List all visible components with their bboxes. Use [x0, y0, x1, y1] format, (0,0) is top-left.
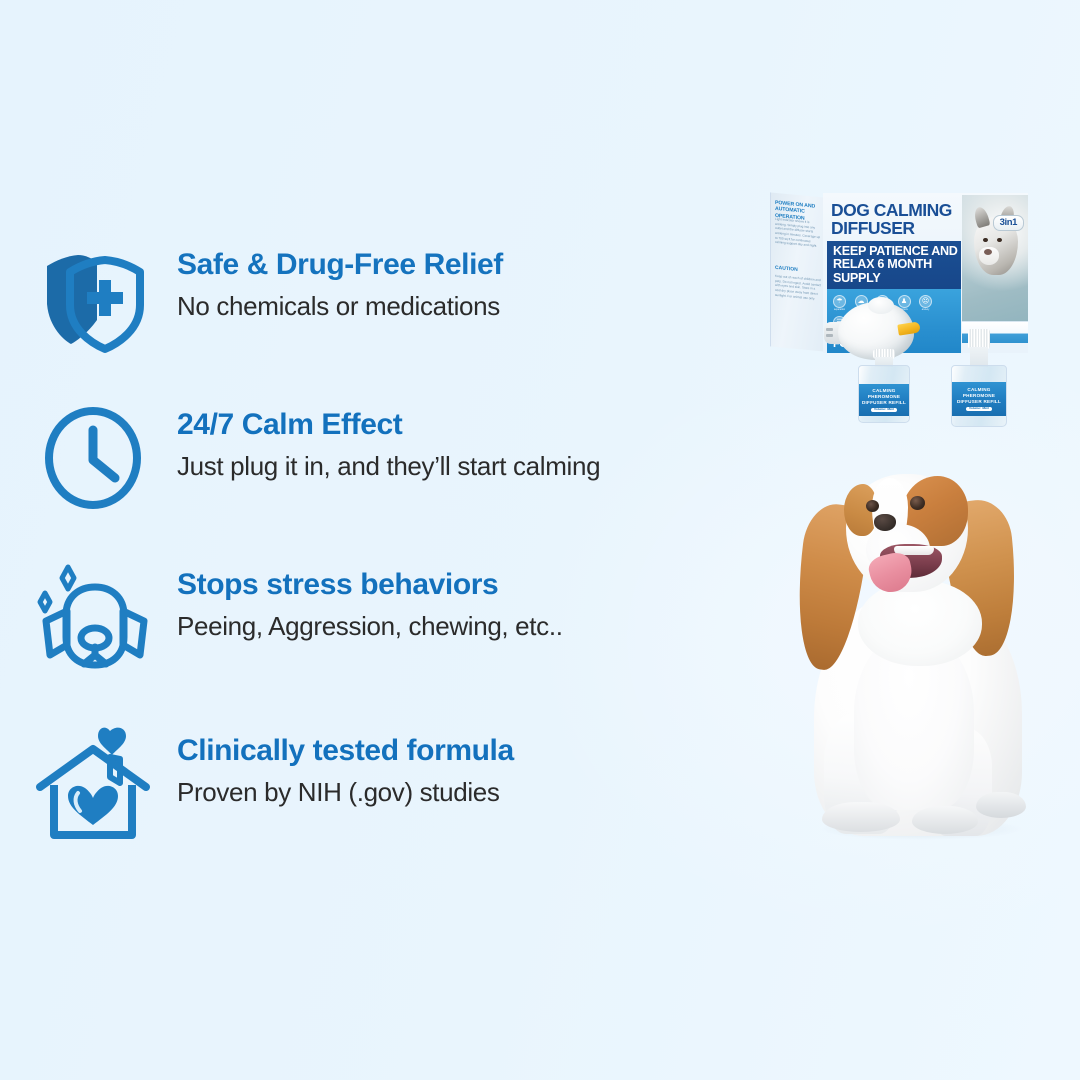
bottle-label-line1: CALMING PHEROMONE [952, 387, 1006, 399]
dog-paw-left [822, 802, 900, 832]
bottle-label-line2: DIFFUSER REFILL [862, 400, 906, 406]
feature-subtitle: Just plug it in, and they’ll start calmi… [177, 452, 600, 481]
bottle-glass: CALMING PHEROMONE DIFFUSER REFILL Volume… [858, 365, 910, 423]
feature-subtitle: Proven by NIH (.gov) studies [177, 778, 514, 807]
refill-bottle-2: CALMING PHEROMONE DIFFUSER REFILL Volume… [948, 335, 1010, 427]
dog-head-sparkle-icon [34, 559, 152, 677]
diffuser-yellow-tip [897, 321, 920, 335]
dog-nose [874, 514, 896, 531]
feature-item-stops-stress: Stops stress behaviors Peeing, Aggressio… [34, 563, 714, 729]
feature-text-block: Safe & Drug-Free Relief No chemicals or … [152, 243, 503, 321]
bottle-cap [968, 329, 990, 349]
bottle-label-line2: DIFFUSER REFILL [957, 399, 1001, 405]
dog-paw-center [912, 806, 978, 834]
dog-paw-right [976, 792, 1026, 818]
package-side-body: Light indicator shows it is working. Sim… [775, 217, 821, 249]
product-image: POWER ON AND AUTOMATIC OPERATION Light i… [752, 183, 1052, 445]
feature-item-calm-effect: 24/7 Calm Effect Just plug it in, and th… [34, 403, 714, 563]
house-heart-icon [34, 725, 152, 843]
feature-title: Stops stress behaviors [177, 569, 563, 601]
feature-item-clinically-tested: Clinically tested formula Proven by NIH … [34, 729, 714, 889]
feature-title: 24/7 Calm Effect [177, 409, 600, 441]
bottle-label: CALMING PHEROMONE DIFFUSER REFILL Volume… [859, 384, 909, 416]
feature-subtitle: Peeing, Aggression, chewing, etc.. [177, 612, 563, 641]
husky-eye-right [997, 238, 1002, 242]
package-side-panel: POWER ON AND AUTOMATIC OPERATION Light i… [770, 192, 825, 351]
package-caution-body: Keep out of reach of children and pets. … [775, 274, 821, 302]
bottle-label-line1: CALMING PHEROMONE [859, 388, 909, 400]
bottle-volume: Volume: 48ml [871, 408, 897, 413]
package-banner-text: KEEP PATIENCE AND RELAX 6 MONTH SUPPLY [827, 245, 961, 286]
dog-eye-right [910, 496, 925, 510]
feature-title: Clinically tested formula [177, 735, 514, 767]
three-in-one-badge: 3in1 [993, 215, 1024, 231]
feature-text-block: Clinically tested formula Proven by NIH … [152, 729, 514, 807]
dog-neck-ruff [858, 580, 982, 666]
feature-subtitle: No chemicals or medications [177, 292, 503, 321]
cavalier-king-charles-spaniel-photo [762, 462, 1062, 844]
feature-title: Safe & Drug-Free Relief [177, 249, 503, 281]
shield-plus-icon [34, 239, 152, 357]
clock-icon [34, 399, 152, 517]
feature-text-block: 24/7 Calm Effect Just plug it in, and th… [152, 403, 600, 481]
bottle-neck [970, 347, 988, 367]
diffuser-top-bump [868, 297, 894, 314]
feature-text-block: Stops stress behaviors Peeing, Aggressio… [152, 563, 563, 641]
bottle-volume: Volume: 48ml [966, 407, 992, 412]
package-husky-photo: 3in1 [962, 195, 1028, 331]
infographic-canvas: Safe & Drug-Free Relief No chemicals or … [0, 0, 1080, 1080]
feature-list: Safe & Drug-Free Relief No chemicals or … [34, 243, 714, 889]
feature-item-safe-drug-free: Safe & Drug-Free Relief No chemicals or … [34, 243, 714, 403]
package-banner: KEEP PATIENCE AND RELAX 6 MONTH SUPPLY [827, 241, 961, 289]
bottle-glass: CALMING PHEROMONE DIFFUSER REFILL Volume… [951, 365, 1007, 427]
dog-illustration [762, 462, 1062, 844]
refill-bottle-1: CALMING PHEROMONE DIFFUSER REFILL Volume… [856, 351, 912, 423]
husky-eye-left [983, 238, 988, 242]
bottle-label: CALMING PHEROMONE DIFFUSER REFILL Volume… [952, 382, 1006, 416]
husky-ear-left [972, 206, 990, 229]
husky-nose [984, 249, 992, 255]
dog-eye-left [866, 500, 879, 512]
